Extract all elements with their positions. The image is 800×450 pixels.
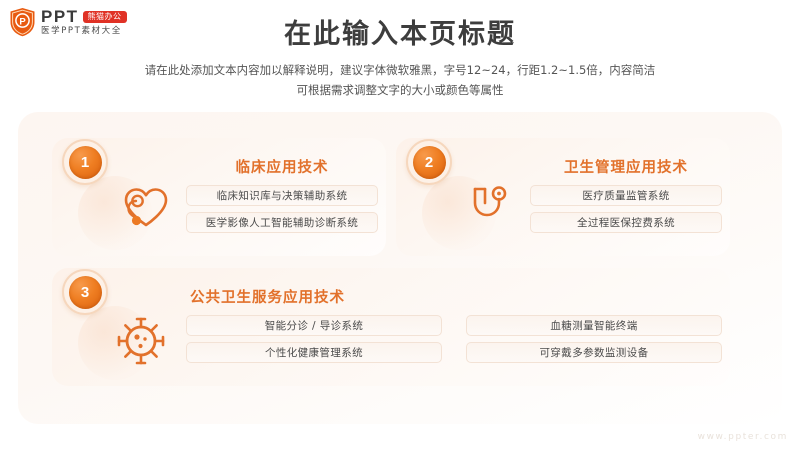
section-number-2: 2 [413,146,446,179]
list-item[interactable]: 全过程医保控费系统 [530,212,722,233]
section-item-list-2: 医疗质量监管系统 全过程医保控费系统 [530,185,722,233]
subtitle-line-2: 可根据需求调整文字的大小或颜色等属性 [0,80,800,100]
page-subtitle: 请在此处添加文本内容加以解释说明，建议字体微软雅黑，字号12~24，行距1.2~… [0,60,800,100]
list-item[interactable]: 血糖测量智能终端 [466,315,722,336]
list-item[interactable]: 医学影像人工智能辅助诊断系统 [186,212,378,233]
section-number-badge-3: 3 [62,269,108,315]
section-body-2: 卫生管理应用技术 医疗质量监管系统 全过程医保控费系统 [530,156,722,233]
section-item-list-1: 临床知识库与决策辅助系统 医学影像人工智能辅助诊断系统 [186,185,378,233]
heart-stethoscope-icon [116,178,174,236]
section-number-badge-2: 2 [406,139,452,185]
list-item[interactable]: 临床知识库与决策辅助系统 [186,185,378,206]
section-number-3: 3 [69,276,102,309]
section-body-1: 临床应用技术 临床知识库与决策辅助系统 医学影像人工智能辅助诊断系统 [186,156,378,233]
page-title: 在此输入本页标题 [0,12,800,51]
section-number-1: 1 [69,146,102,179]
virus-icon [112,312,170,370]
section-body-3: 公共卫生服务应用技术 智能分诊 / 导诊系统 血糖测量智能终端 个性化健康管理系… [186,286,722,363]
section-title-3: 公共卫生服务应用技术 [186,286,722,307]
section-title-2: 卫生管理应用技术 [530,156,722,177]
subtitle-line-1: 请在此处添加文本内容加以解释说明，建议字体微软雅黑，字号12~24，行距1.2~… [0,60,800,80]
list-item[interactable]: 个性化健康管理系统 [186,342,442,363]
section-number-badge-1: 1 [62,139,108,185]
section-title-1: 临床应用技术 [186,156,378,177]
section-item-list-3: 智能分诊 / 导诊系统 血糖测量智能终端 个性化健康管理系统 可穿戴多参数监测设… [186,315,722,363]
slide-canvas: P PPT 熊猫办公 医学PPT素材大全 在此输入本页标题 请在此处添加文本内容… [0,0,800,450]
stethoscope-icon [460,178,518,236]
list-item[interactable]: 可穿戴多参数监测设备 [466,342,722,363]
footer-watermark: www.ppter.com [698,432,788,442]
list-item[interactable]: 医疗质量监管系统 [530,185,722,206]
list-item[interactable]: 智能分诊 / 导诊系统 [186,315,442,336]
